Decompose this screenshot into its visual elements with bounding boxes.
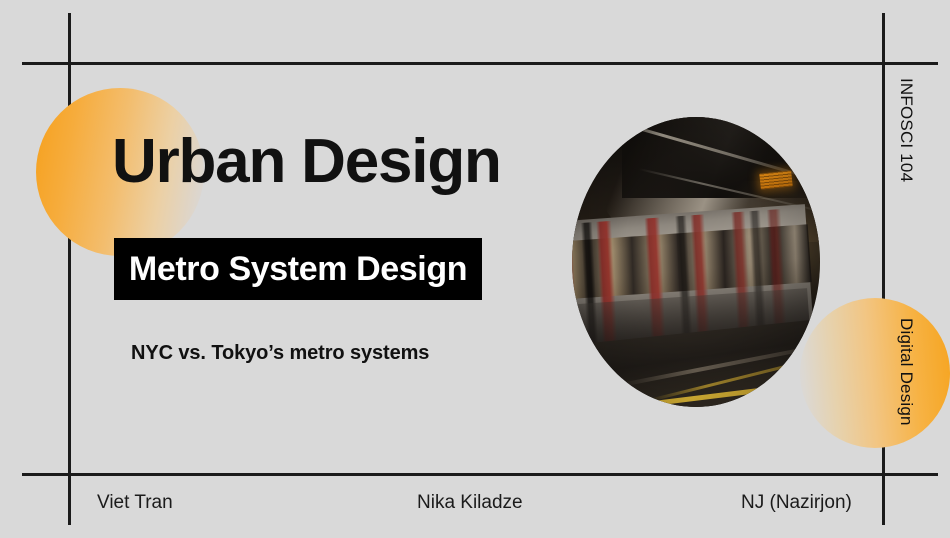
banner-block: Metro System Design (114, 238, 482, 300)
slide-title: Urban Design (112, 131, 501, 193)
department-label: Digital Design (896, 318, 916, 426)
author-name: Nika Kiladze (417, 492, 523, 514)
slide-subtitle: NYC vs. Tokyo’s metro systems (131, 342, 429, 365)
vertical-rule-right (882, 13, 885, 525)
subway-train-photo (572, 117, 820, 407)
course-code-label: INFOSCI 104 (896, 78, 916, 182)
vertical-rule-left (68, 13, 71, 525)
banner-label: Metro System Design (114, 238, 482, 300)
orange-circle-bottom-right (800, 298, 950, 448)
presentation-title-slide: Urban Design Metro System Design NYC vs.… (0, 0, 950, 538)
horizontal-rule-bottom (22, 473, 938, 476)
horizontal-rule-top (22, 62, 938, 65)
author-name: NJ (Nazirjon) (741, 492, 852, 514)
author-name: Viet Tran (97, 492, 173, 514)
photo-vignette (572, 117, 820, 407)
